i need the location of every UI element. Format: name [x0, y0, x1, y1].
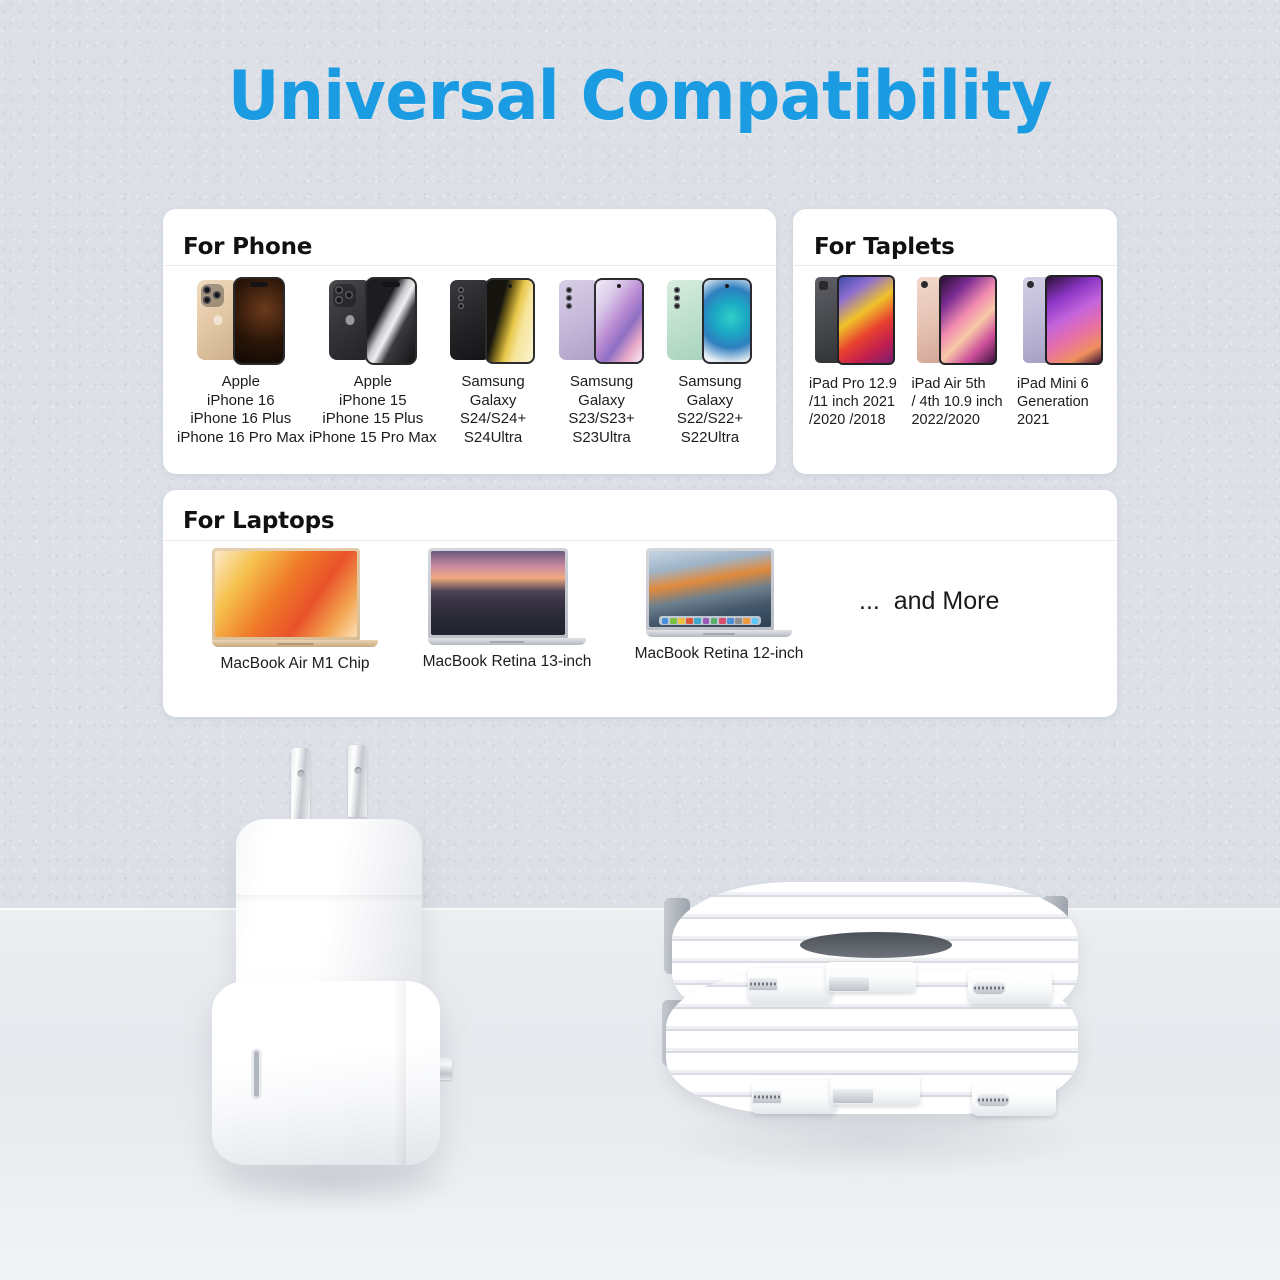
card-divider	[793, 265, 1117, 266]
device-item-ipad-mini: iPad Mini 6 Generation 2021	[1017, 273, 1105, 429]
galaxy-s23-image	[550, 275, 654, 367]
usb-c-connector-tip	[752, 1090, 782, 1104]
card-divider	[163, 265, 776, 266]
device-label: Apple iPhone 15 iPhone 15 Plus iPhone 15…	[309, 373, 437, 447]
camera-module-icon	[333, 284, 356, 307]
device-item-galaxy-s24: Samsung Galaxy S24/S24+ S24Ultra	[441, 275, 545, 447]
phone-front	[702, 278, 752, 364]
device-item-galaxy-s22: Samsung Galaxy S22/S22+ S22Ultra	[658, 275, 762, 447]
laptop-screen	[649, 551, 771, 627]
device-label: MacBook Retina 13-inch	[423, 653, 592, 671]
device-label: Samsung Galaxy S23/S23+ S23Ultra	[568, 373, 634, 447]
trackpad-notch-icon	[277, 643, 314, 645]
device-label: Samsung Galaxy S22/S22+ S22Ultra	[677, 373, 743, 447]
trackpad-notch-icon	[490, 641, 525, 643]
plug-prong-left	[291, 748, 310, 820]
tablet-front	[939, 275, 997, 365]
ipad-pro-image	[809, 273, 897, 369]
punch-hole-camera-icon	[508, 284, 512, 288]
laptop-lid	[646, 548, 774, 630]
dynamic-island-icon	[250, 282, 268, 287]
device-item-ipad-air: iPad Air 5th / 4th 10.9 inch 2022/2020	[911, 273, 1002, 429]
cable-coil-opening	[800, 932, 952, 958]
laptop-screen	[215, 551, 357, 637]
laptop-base	[428, 638, 586, 645]
device-item-iphone-15: Apple iPhone 15 iPhone 15 Plus iPhone 15…	[309, 275, 437, 447]
laptop-base	[212, 640, 378, 647]
device-item-macbook-air: MacBook Air M1 Chip	[189, 548, 401, 673]
phone-back	[667, 280, 707, 360]
macbook-retina-13-image	[428, 548, 586, 645]
device-label: MacBook Air M1 Chip	[220, 655, 369, 673]
card-heading-tablet: For Taplets	[814, 234, 955, 260]
iphone-16-image	[189, 275, 293, 367]
compatibility-card-tablet: For Taplets iPad Pro 12.9 /11 inch 2021 …	[793, 209, 1117, 474]
usb-c-connector-tip	[828, 976, 870, 992]
tablet-front	[1045, 275, 1103, 365]
tablet-device-row: iPad Pro 12.9 /11 inch 2021 /2020 /2018 …	[809, 273, 1105, 429]
camera-icon	[1027, 281, 1034, 288]
card-heading-laptop: For Laptops	[183, 508, 334, 534]
device-item-macbook-retina-13: MacBook Retina 13-inch	[401, 548, 613, 673]
dynamic-island-icon	[382, 282, 400, 287]
power-adapter-lying	[212, 981, 440, 1165]
usb-c-port-icon	[252, 1049, 261, 1099]
device-item-ipad-pro: iPad Pro 12.9 /11 inch 2021 /2020 /2018	[809, 273, 897, 429]
laptop-screen	[431, 551, 565, 635]
laptop-lid	[428, 548, 568, 638]
and-more-label: ... and More	[859, 587, 999, 616]
laptop-base	[646, 630, 792, 637]
ipad-air-image	[911, 273, 999, 369]
compatibility-card-laptop: For Laptops MacBook Air M1 Chip	[163, 490, 1117, 717]
usb-c-connector-tip	[832, 1088, 874, 1104]
camera-icon	[819, 281, 828, 290]
compatibility-card-phone: For Phone Apple iPhone 16 iPhone 16 Plus…	[163, 209, 776, 474]
punch-hole-camera-icon	[617, 284, 621, 288]
macos-dock-icon	[659, 616, 762, 625]
plug-prong-right	[348, 745, 367, 817]
laptop-lid	[212, 548, 360, 640]
phone-back	[559, 280, 599, 360]
galaxy-s24-image	[441, 275, 545, 367]
camera-module-icon	[563, 284, 576, 311]
device-label: MacBook Retina 12-inch	[635, 645, 804, 663]
apple-logo-icon	[345, 315, 354, 325]
phone-device-row: Apple iPhone 16 iPhone 16 Plus iPhone 16…	[177, 275, 762, 447]
device-label: iPad Mini 6 Generation 2021	[1017, 375, 1089, 429]
iphone-15-image	[321, 275, 425, 367]
phone-front	[365, 277, 417, 365]
usb-c-connector-tip	[748, 977, 778, 991]
device-item-galaxy-s23: Samsung Galaxy S23/S23+ S23Ultra	[550, 275, 654, 447]
device-item-macbook-retina-12: MacBook Retina 12-inch	[613, 548, 825, 673]
camera-module-icon	[201, 284, 224, 307]
device-item-iphone-16: Apple iPhone 16 iPhone 16 Plus iPhone 16…	[177, 275, 305, 447]
punch-hole-camera-icon	[725, 284, 729, 288]
ipad-mini-image	[1017, 273, 1105, 369]
usb-c-connector-tip	[976, 1093, 1010, 1107]
product-photo	[0, 700, 1280, 1280]
phone-back	[450, 280, 490, 360]
phone-front	[594, 278, 644, 364]
tablet-front	[837, 275, 895, 365]
device-label: iPad Air 5th / 4th 10.9 inch 2022/2020	[911, 375, 1002, 429]
macbook-air-image	[212, 548, 378, 647]
card-divider	[163, 540, 1117, 541]
camera-module-icon	[454, 284, 467, 311]
card-heading-phone: For Phone	[183, 234, 312, 260]
macbook-retina-12-image	[646, 548, 792, 637]
apple-logo-icon	[213, 315, 222, 325]
phone-front	[485, 278, 535, 364]
phone-front	[233, 277, 285, 365]
device-label: Samsung Galaxy S24/S24+ S24Ultra	[460, 373, 526, 447]
device-label: iPad Pro 12.9 /11 inch 2021 /2020 /2018	[809, 375, 897, 429]
laptop-device-row: MacBook Air M1 Chip MacBook Retina 13-in…	[189, 548, 1099, 673]
camera-icon	[921, 281, 928, 288]
camera-module-icon	[671, 284, 684, 311]
page-title: Universal Compatibility	[45, 63, 1235, 131]
galaxy-s22-image	[658, 275, 762, 367]
trackpad-notch-icon	[703, 633, 735, 635]
usb-c-connector-tip	[972, 981, 1006, 995]
device-label: Apple iPhone 16 iPhone 16 Plus iPhone 16…	[177, 373, 305, 447]
